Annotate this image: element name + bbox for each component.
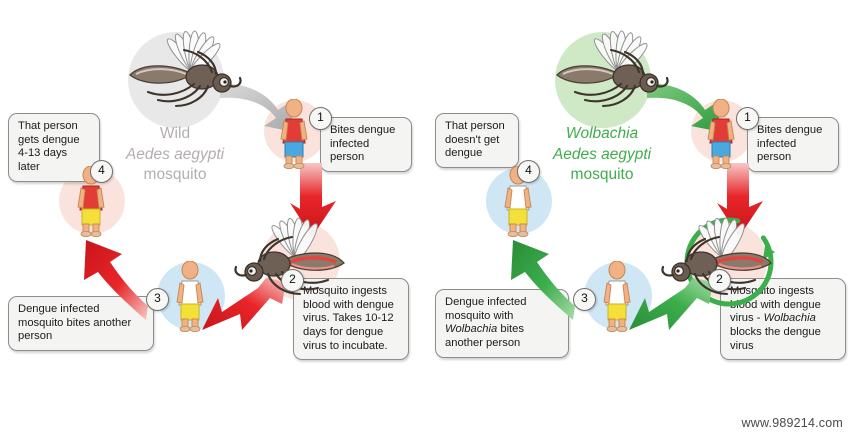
step-3-person-healthy [599,261,635,333]
watermark-text: www.989214.com [742,416,843,430]
step-2-badge: 2 [708,269,731,292]
step-1-person-infected [276,99,312,169]
step-2-text-italic: Wolbachia [764,312,816,324]
step-2-badge: 2 [281,269,304,292]
step-1-badge: 1 [736,107,759,130]
step-2-text-part2: blocks the dengue virus [730,326,821,352]
step-3-person-healthy [172,261,208,333]
step-2-mosquito-blood-fed [224,216,364,308]
step-1-text: Bites dengue infected person [757,124,822,163]
cycle-arrow-3-to-4-red [78,234,150,322]
panel-divider [426,0,427,436]
step-4-badge: 4 [517,160,540,183]
step-4-callout: That person doesn't get dengue [435,113,519,168]
wolbachia-mosquito-illustration [539,28,679,120]
panel-wild-mosquito: Wild Aedes aegypti mosquito [0,0,426,436]
step-3-badge: 3 [573,288,596,311]
step-4-text: That person doesn't get dengue [445,120,505,159]
step-3-badge: 3 [146,288,169,311]
step-1-badge: 1 [309,107,332,130]
species-line-2: Aedes aegypti [527,145,677,166]
step-1-person-infected [703,99,739,169]
step-4-text: That person gets dengue 4-13 days later [18,120,80,173]
species-line-3: mosquito [100,165,250,186]
step-3-text-italic: Wolbachia [445,323,497,335]
infographic-canvas: Wild Aedes aegypti mosquito [0,0,853,436]
step-2-mosquito-blood-fed-blocked [651,216,791,308]
cycle-arrow-3-to-4-green [505,234,577,322]
wild-mosquito-illustration [112,28,252,120]
species-line-2: Aedes aegypti [100,145,250,166]
panel-wolbachia-mosquito: Wolbachia Aedes aegypti mosquito [427,0,853,436]
step-4-badge: 4 [90,160,113,183]
step-1-text: Bites dengue infected person [330,124,395,163]
species-line-3: mosquito [527,165,677,186]
